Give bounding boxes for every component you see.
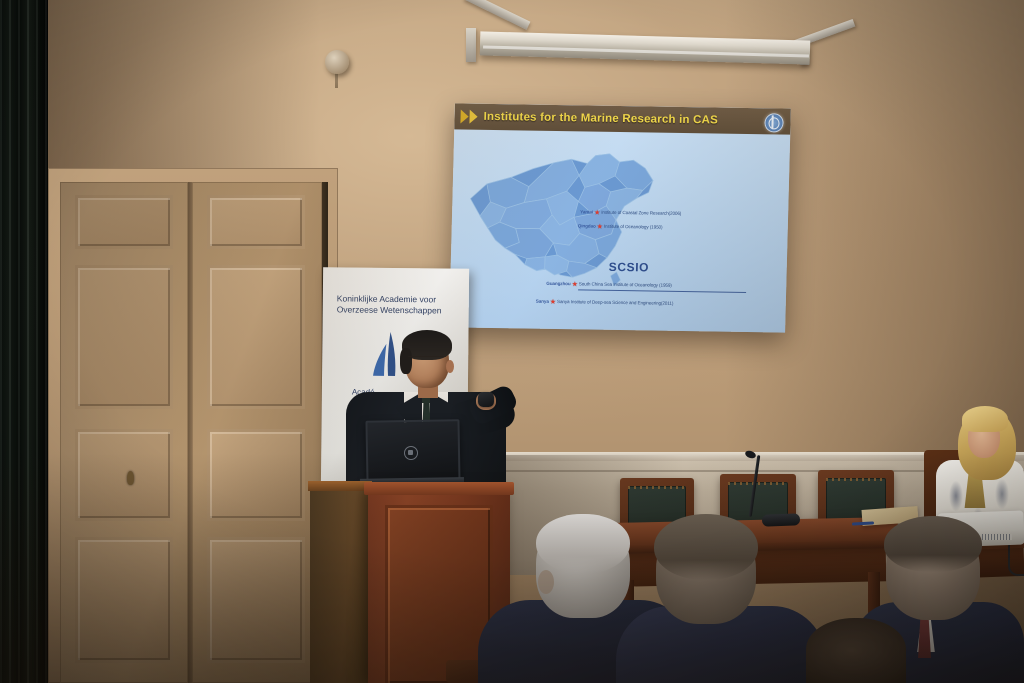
wall-sensor-icon <box>325 50 349 74</box>
sensor-stem <box>335 72 338 88</box>
slide-body: Yantai★Institute of Coastal Zone Researc… <box>449 129 790 332</box>
roller-bracket-left-post <box>466 28 476 62</box>
slide-title: Institutes for the Marine Research in CA… <box>483 111 718 127</box>
cas-logo-icon <box>764 113 783 132</box>
chevron-right-icon <box>460 109 477 123</box>
map-marker-sanya: Sanya★Sanya Institute of Deep-sea Scienc… <box>536 299 674 306</box>
map-marker-yantai: Yantai★Institute of Coastal Zone Researc… <box>580 209 681 216</box>
attendee-hair <box>962 406 1008 432</box>
speaker-glasses-icon <box>408 356 446 366</box>
projection-screen: Institutes for the Marine Research in CA… <box>449 103 791 332</box>
foreground-shading <box>0 453 1024 683</box>
slide-section-heading: SCSIO <box>609 260 650 275</box>
presentation-remote[interactable] <box>478 392 494 407</box>
slide: Institutes for the Marine Research in CA… <box>449 103 791 332</box>
presentation-photo: Institutes for the Marine Research in CA… <box>0 0 1024 683</box>
speaker-ear <box>446 360 454 373</box>
